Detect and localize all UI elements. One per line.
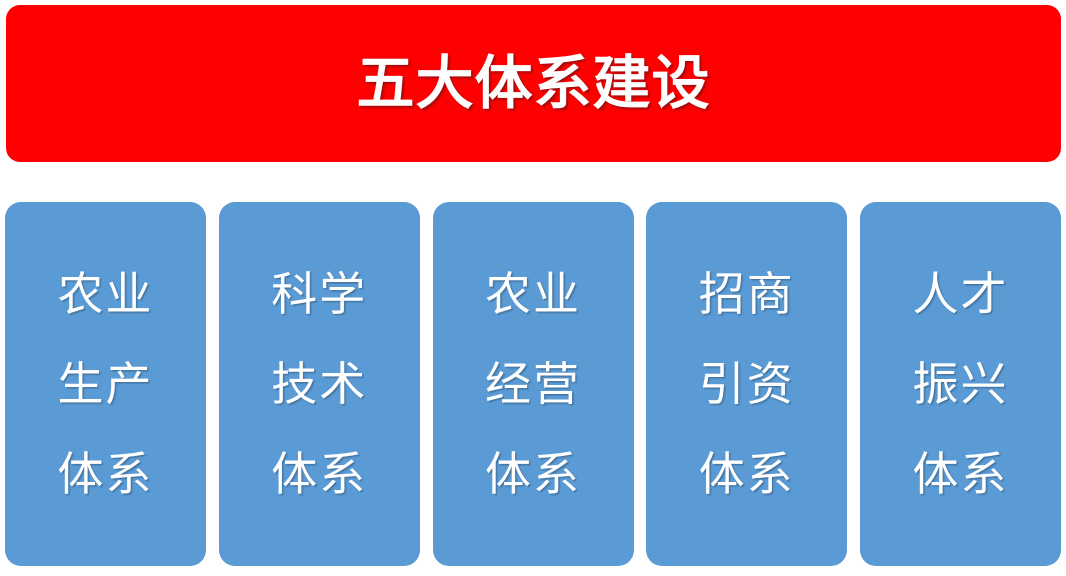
pillar-card-agricultural-management[interactable]: 农业 经营 体系	[433, 202, 634, 566]
pillar-line-1: 人才	[913, 249, 1009, 339]
pillar-line-1: 农业	[485, 249, 581, 339]
title-banner: 五大体系建设	[6, 5, 1061, 162]
pillar-card-science-technology[interactable]: 科学 技术 体系	[219, 202, 420, 566]
pillar-line-1: 科学	[271, 249, 367, 339]
pillar-row: 农业 生产 体系 科学 技术 体系 农业 经营 体系 招商 引资 体系 人才 振…	[5, 202, 1061, 566]
diagram-root: 五大体系建设 农业 生产 体系 科学 技术 体系 农业 经营 体系 招商 引资 …	[0, 0, 1066, 576]
pillar-line-3: 体系	[913, 429, 1009, 519]
pillar-line-2: 引资	[699, 339, 795, 429]
pillar-line-1: 农业	[58, 249, 154, 339]
pillar-line-3: 体系	[485, 429, 581, 519]
pillar-card-investment-attraction[interactable]: 招商 引资 体系	[646, 202, 847, 566]
pillar-line-3: 体系	[58, 429, 154, 519]
pillar-line-3: 体系	[271, 429, 367, 519]
pillar-line-2: 经营	[485, 339, 581, 429]
pillar-card-agricultural-production[interactable]: 农业 生产 体系	[5, 202, 206, 566]
pillar-line-2: 生产	[58, 339, 154, 429]
pillar-line-1: 招商	[699, 249, 795, 339]
pillar-card-talent-revitalization[interactable]: 人才 振兴 体系	[860, 202, 1061, 566]
pillar-line-3: 体系	[699, 429, 795, 519]
pillar-line-2: 振兴	[913, 339, 1009, 429]
page-title: 五大体系建设	[356, 53, 710, 114]
pillar-line-2: 技术	[271, 339, 367, 429]
